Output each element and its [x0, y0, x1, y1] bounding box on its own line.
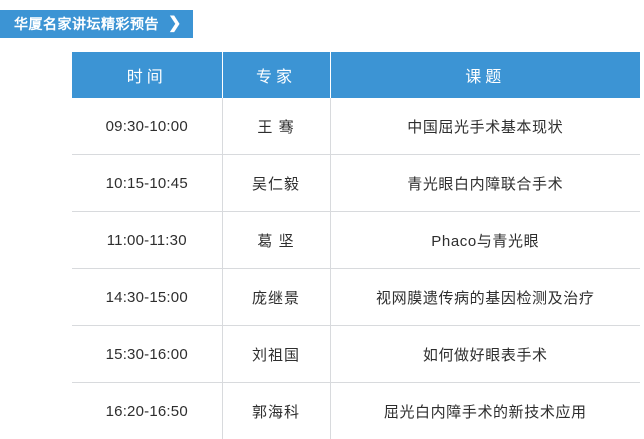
- table-header: 时间 专家 课题: [72, 52, 640, 98]
- cell-topic: 青光眼白内障联合手术: [330, 155, 640, 212]
- cell-time: 15:30-16:00: [72, 326, 222, 383]
- cell-expert: 刘祖国: [222, 326, 330, 383]
- chevron-right-icon: ❯: [168, 16, 181, 32]
- banner: 华厦名家讲坛精彩预告 ❯: [0, 10, 193, 38]
- cell-topic: 如何做好眼表手术: [330, 326, 640, 383]
- table-row: 14:30-15:00 庞继景 视网膜遗传病的基因检测及治疗: [72, 269, 640, 326]
- table-header-row: 时间 专家 课题: [72, 52, 640, 98]
- cell-expert: 王 骞: [222, 98, 330, 155]
- column-header-topic: 课题: [330, 52, 640, 98]
- cell-expert: 郭海科: [222, 383, 330, 439]
- table-row: 09:30-10:00 王 骞 中国屈光手术基本现状: [72, 98, 640, 155]
- banner-title: 华厦名家讲坛精彩预告: [14, 17, 159, 31]
- cell-time: 09:30-10:00: [72, 98, 222, 155]
- cell-topic: Phaco与青光眼: [330, 212, 640, 269]
- cell-expert: 吴仁毅: [222, 155, 330, 212]
- cell-time: 10:15-10:45: [72, 155, 222, 212]
- cell-expert: 葛 坚: [222, 212, 330, 269]
- table-row: 16:20-16:50 郭海科 屈光白内障手术的新技术应用: [72, 383, 640, 439]
- cell-time: 16:20-16:50: [72, 383, 222, 439]
- table-body: 09:30-10:00 王 骞 中国屈光手术基本现状 10:15-10:45 吴…: [72, 98, 640, 439]
- cell-time: 11:00-11:30: [72, 212, 222, 269]
- cell-topic: 屈光白内障手术的新技术应用: [330, 383, 640, 439]
- table-row: 15:30-16:00 刘祖国 如何做好眼表手术: [72, 326, 640, 383]
- column-header-time: 时间: [72, 52, 222, 98]
- cell-topic: 视网膜遗传病的基因检测及治疗: [330, 269, 640, 326]
- column-header-expert: 专家: [222, 52, 330, 98]
- schedule-table-wrapper: 时间 专家 课题 09:30-10:00 王 骞 中国屈光手术基本现状 10:1…: [72, 52, 640, 439]
- page-root: 华厦名家讲坛精彩预告 ❯ 时间 专家 课题 09:30-10:00 王 骞: [0, 0, 644, 430]
- cell-topic: 中国屈光手术基本现状: [330, 98, 640, 155]
- cell-expert: 庞继景: [222, 269, 330, 326]
- cell-time: 14:30-15:00: [72, 269, 222, 326]
- table-row: 11:00-11:30 葛 坚 Phaco与青光眼: [72, 212, 640, 269]
- schedule-table: 时间 专家 课题 09:30-10:00 王 骞 中国屈光手术基本现状 10:1…: [72, 52, 640, 439]
- table-row: 10:15-10:45 吴仁毅 青光眼白内障联合手术: [72, 155, 640, 212]
